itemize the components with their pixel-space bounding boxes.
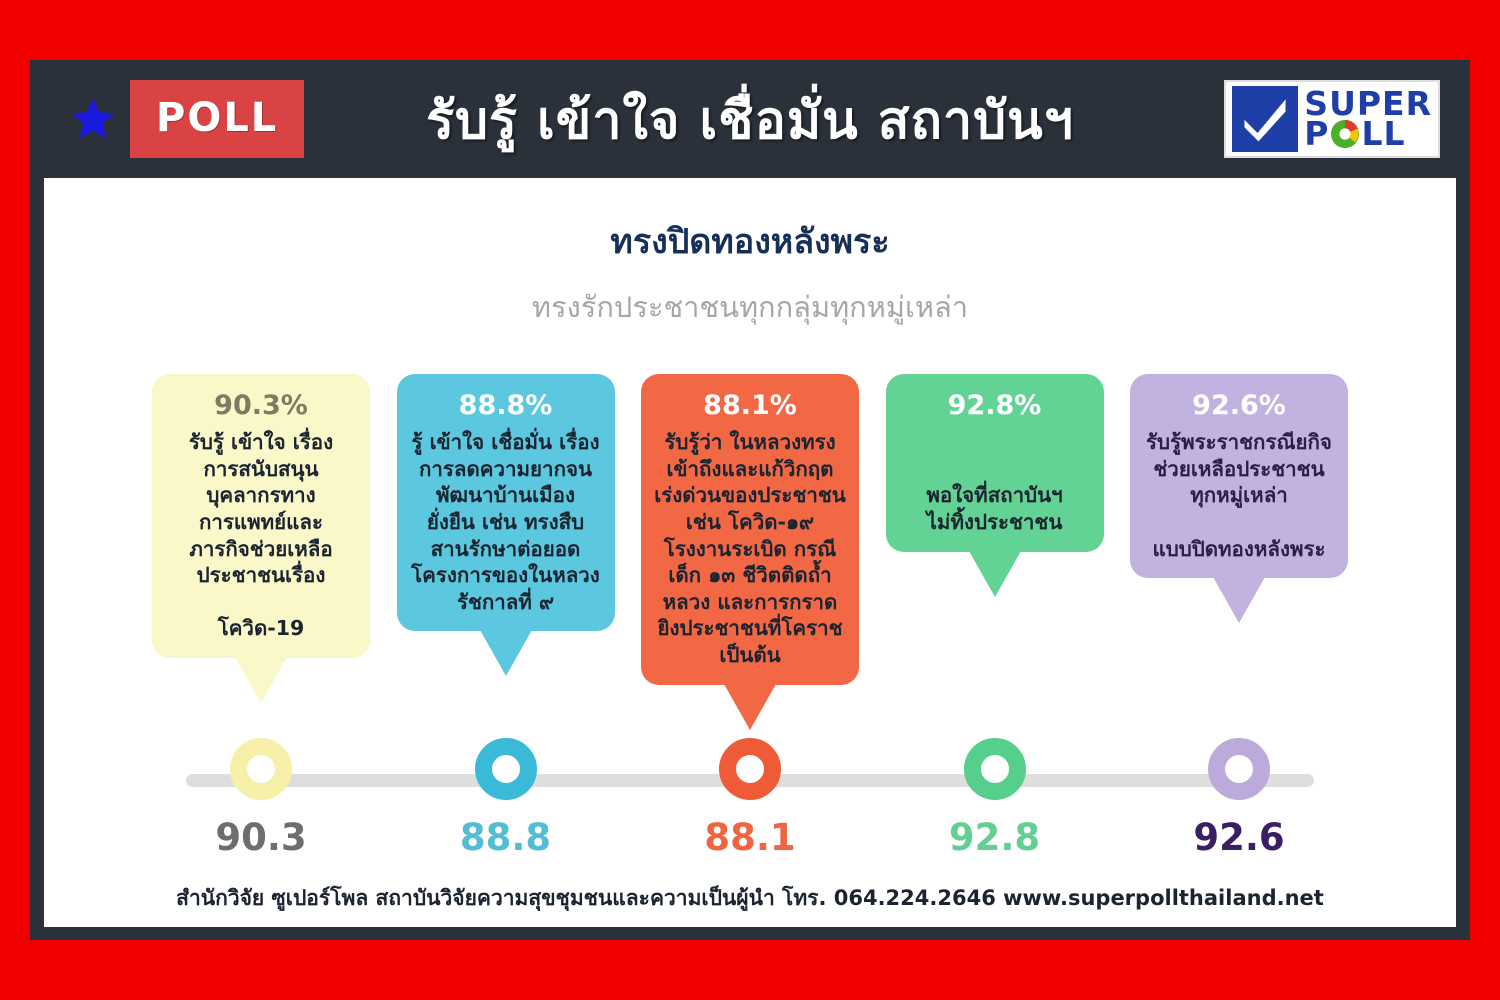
bubble-tail: [480, 630, 532, 676]
bubble-description: รับรู้ เข้าใจ เรื่อง การสนับสนุน บุคลากร…: [162, 429, 360, 642]
timeline-point[interactable]: 90.3: [152, 738, 370, 859]
donut-marker-icon[interactable]: [475, 738, 537, 800]
bubble-item: 90.3%รับรู้ เข้าใจ เรื่อง การสนับสนุน บุ…: [152, 374, 370, 703]
logo-wordmark: SUPER P LL: [1304, 89, 1432, 150]
bubble-percent: 90.3%: [162, 390, 360, 421]
header-bar: POLL รับรู้ เข้าใจ เชื่อมั่น สถาบันฯ SUP…: [44, 60, 1456, 178]
bubble-percent: 92.6%: [1140, 390, 1338, 421]
bubble-body: 88.1%รับรู้ว่า ในหลวงทรง เข้าถึงและแก้วิ…: [641, 374, 859, 685]
headline: ทรงปิดทองหลังพระ: [44, 214, 1456, 268]
bubble-description: พอใจที่สถาบันฯ ไม่ทิ้งประชาชน: [896, 429, 1094, 536]
bubble-item: 88.8%รู้ เข้าใจ เชื่อมั่น เรื่อง การลดคว…: [397, 374, 615, 676]
timeline-value-label: 92.8: [949, 816, 1040, 859]
logo-poll-ll: LL: [1361, 119, 1405, 149]
timeline-point[interactable]: 92.8: [886, 738, 1104, 859]
bubble-percent: 88.8%: [407, 390, 605, 421]
bubble-description: รับรู้พระราชกรณียกิจ ช่วยเหลือประชาชน ทุ…: [1140, 429, 1338, 562]
bubble-description: รับรู้ว่า ในหลวงทรง เข้าถึงและแก้วิกฤต เ…: [651, 429, 849, 669]
bubble-percent: 88.1%: [651, 390, 849, 421]
bubble-tail: [724, 684, 776, 730]
timeline-value-label: 88.1: [704, 816, 795, 859]
bubble-item: 92.8% พอใจที่สถาบันฯ ไม่ทิ้งประชาชน: [886, 374, 1104, 597]
superpoll-logo: SUPER P LL: [1224, 80, 1440, 158]
timeline-value-label: 90.3: [215, 816, 306, 859]
poll-badge: POLL: [130, 80, 304, 158]
bubble-tail: [235, 657, 287, 703]
pie-chart-icon: [1330, 119, 1360, 149]
bubble-body: 90.3%รับรู้ เข้าใจ เรื่อง การสนับสนุน บุ…: [152, 374, 370, 658]
bubble-body: 92.8% พอใจที่สถาบันฯ ไม่ทิ้งประชาชน: [886, 374, 1104, 552]
logo-poll-p: P: [1304, 119, 1329, 149]
poster-frame: POLL รับรู้ เข้าใจ เชื่อมั่น สถาบันฯ SUP…: [30, 60, 1470, 940]
bubble-item: 92.6%รับรู้พระราชกรณียกิจ ช่วยเหลือประชา…: [1130, 374, 1348, 623]
bubble-description: รู้ เข้าใจ เชื่อมั่น เรื่อง การลดความยาก…: [407, 429, 605, 615]
bubble-body: 92.6%รับรู้พระราชกรณียกิจ ช่วยเหลือประชา…: [1130, 374, 1348, 578]
bubbles-row: 90.3%รับรู้ เข้าใจ เรื่อง การสนับสนุน บุ…: [44, 374, 1456, 730]
content-card: ทรงปิดทองหลังพระ ทรงรักประชาชนทุกกลุ่มทุ…: [44, 178, 1456, 927]
checkmark-icon: [1232, 86, 1298, 152]
timeline-area: 90.388.888.192.892.6: [44, 730, 1456, 880]
logo-poll-text: P LL: [1304, 119, 1432, 149]
bubble-tail: [969, 551, 1021, 597]
timeline-dots: 90.388.888.192.892.6: [152, 730, 1348, 859]
donut-marker-icon[interactable]: [1208, 738, 1270, 800]
star-icon: [70, 96, 116, 142]
timeline-point[interactable]: 88.8: [397, 738, 615, 859]
timeline-point[interactable]: 88.1: [641, 738, 859, 859]
footer-credit: สำนักวิจัย ซูเปอร์โพล สถาบันวิจัยความสุข…: [44, 882, 1456, 927]
subheadline: ทรงรักประชาชนทุกกลุ่มทุกหมู่เหล่า: [44, 284, 1456, 330]
bubble-percent: 92.8%: [896, 390, 1094, 421]
bubble-body: 88.8%รู้ เข้าใจ เชื่อมั่น เรื่อง การลดคว…: [397, 374, 615, 631]
donut-marker-icon[interactable]: [964, 738, 1026, 800]
bubble-item: 88.1%รับรู้ว่า ในหลวงทรง เข้าถึงและแก้วิ…: [641, 374, 859, 730]
timeline-value-label: 88.8: [460, 816, 551, 859]
timeline-point[interactable]: 92.6: [1130, 738, 1348, 859]
donut-marker-icon[interactable]: [230, 738, 292, 800]
timeline-value-label: 92.6: [1193, 816, 1284, 859]
bubble-tail: [1213, 577, 1265, 623]
donut-marker-icon[interactable]: [719, 738, 781, 800]
